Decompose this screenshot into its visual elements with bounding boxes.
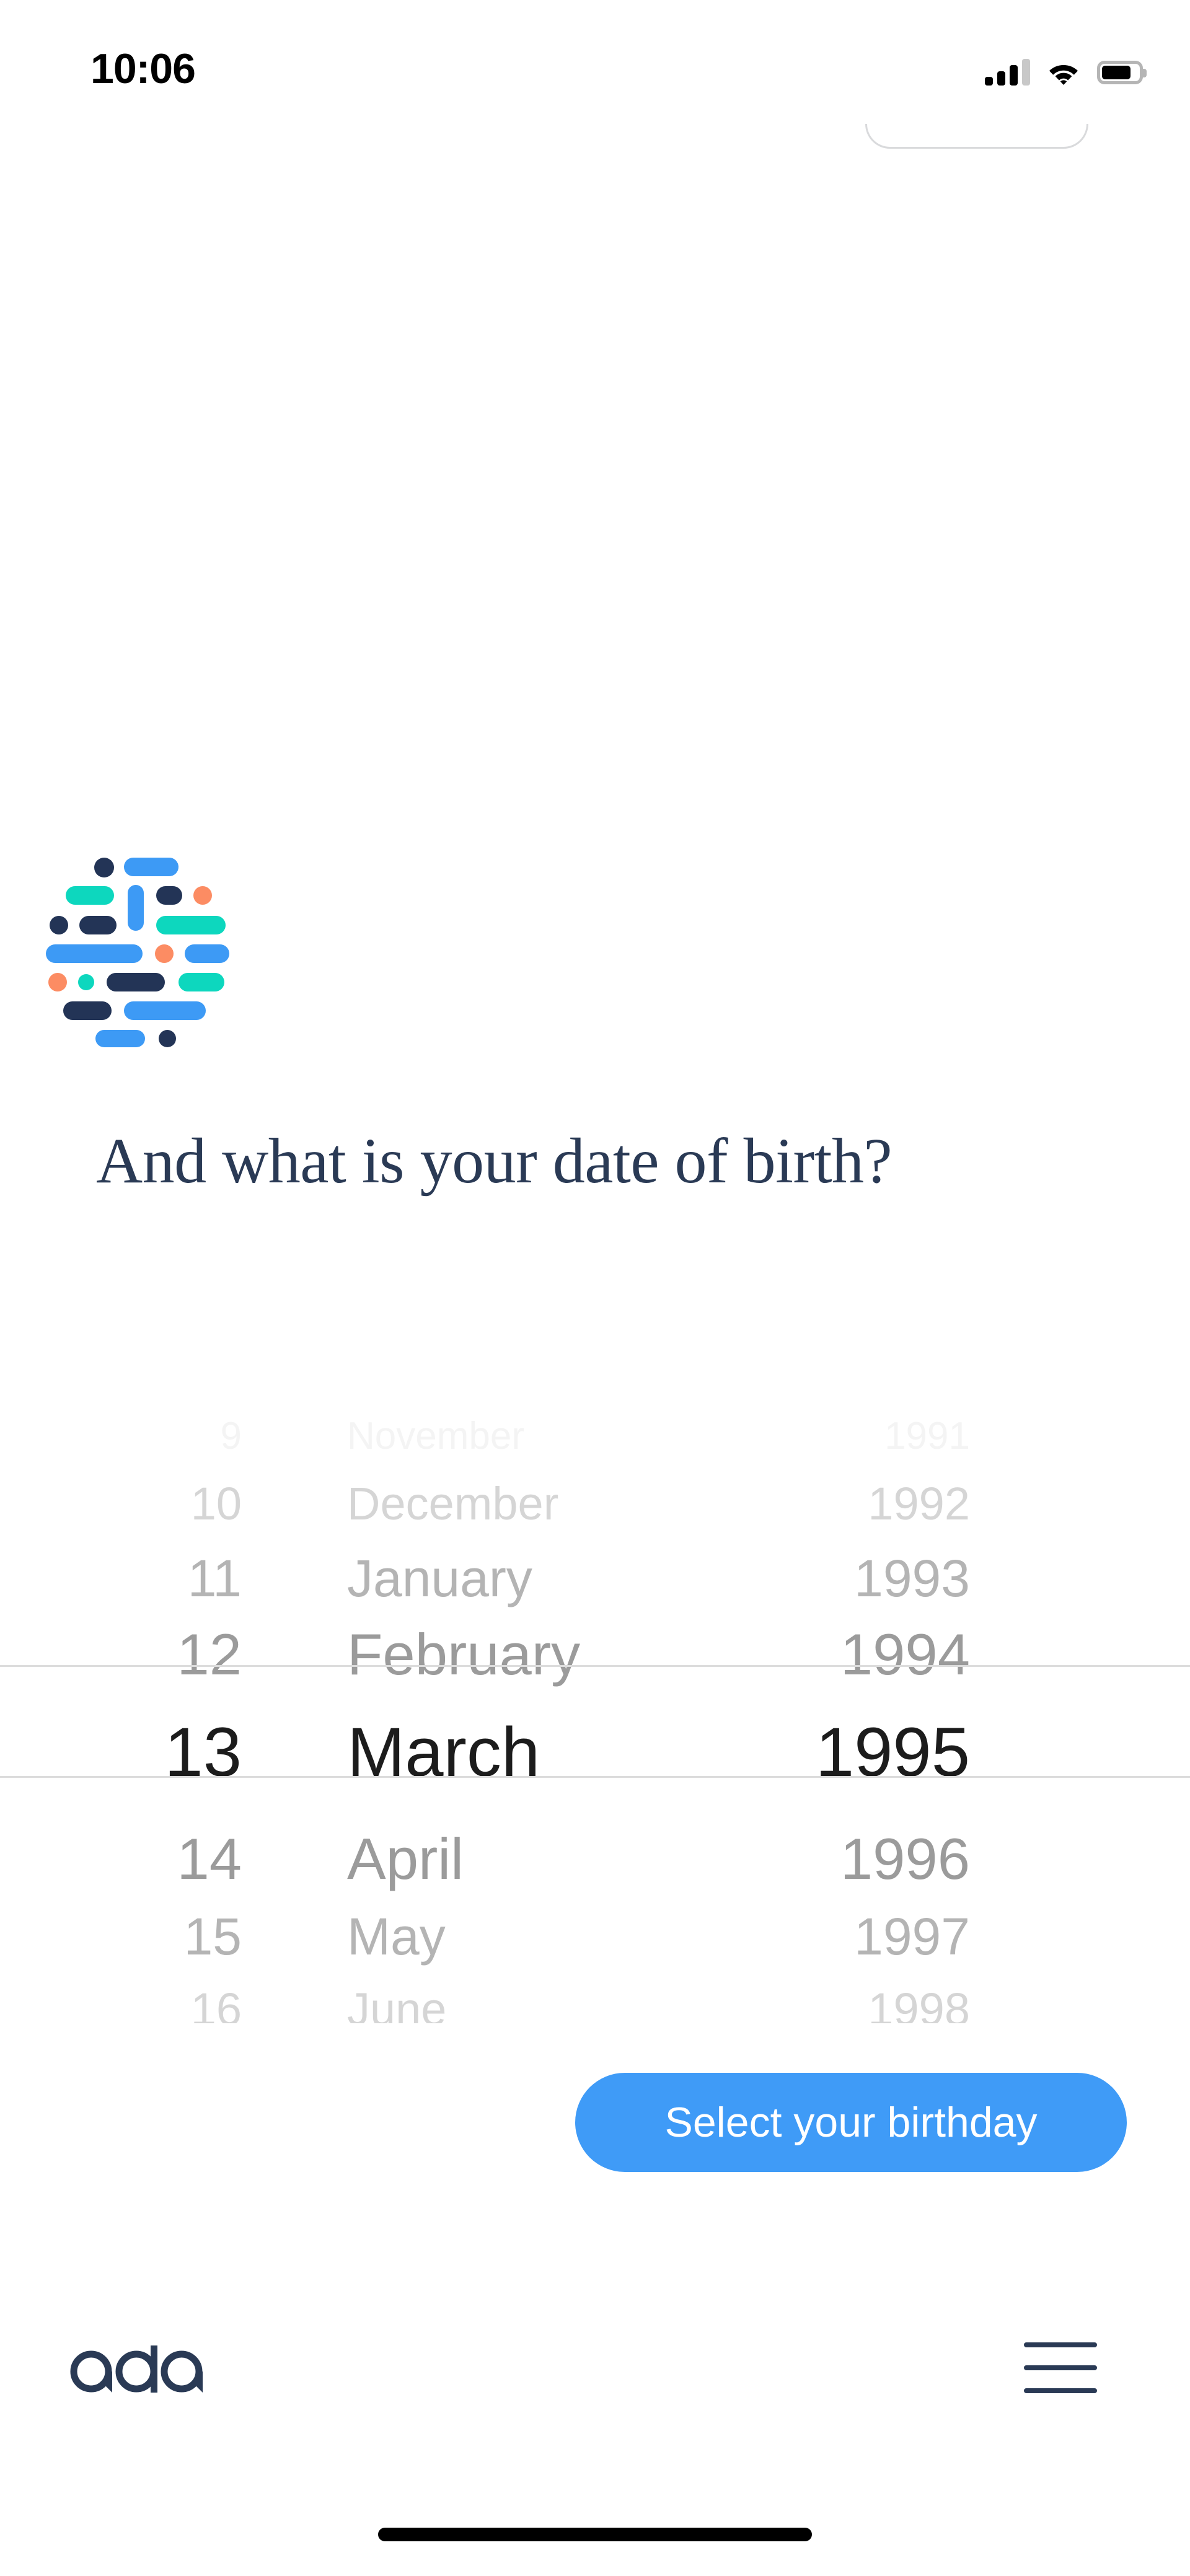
picker-year-cell[interactable]: 1996 [725,1826,1190,1892]
status-bar: 10:06 [0,0,1190,105]
status-bar-indicators [985,51,1147,86]
picker-year-cell[interactable]: 1991 [725,1414,1190,1458]
page-title: And what is your date of birth? [96,1119,902,1203]
previous-message-bubble-edge [865,124,1088,149]
signal-bars-icon [985,58,1030,86]
picker-row[interactable]: 14 April 1996 [0,1813,1190,1906]
battery-icon [1097,61,1147,86]
picker-row[interactable]: 15 May 1997 [0,1893,1190,1980]
ada-wordmark [68,2333,205,2401]
picker-month-cell[interactable]: May [291,1907,725,1967]
picker-day-cell[interactable]: 10 [0,1477,291,1530]
hamburger-menu-icon[interactable] [1024,2342,1097,2393]
picker-year-selected[interactable]: 1995 [725,1712,1190,1792]
picker-selection-line-bottom [0,1776,1190,1778]
wifi-icon [1046,58,1081,86]
picker-day-cell[interactable]: 9 [0,1414,291,1458]
picker-row[interactable]: 10 December 1992 [0,1463,1190,1544]
picker-month-cell[interactable]: January [291,1549,725,1609]
picker-day-cell[interactable]: 16 [0,1983,291,2024]
picker-day-selected[interactable]: 13 [0,1712,291,1792]
ada-dot-logo [37,848,236,1040]
picker-day-cell[interactable]: 14 [0,1826,291,1892]
home-indicator [378,2528,812,2541]
picker-row[interactable]: 16 June 1998 [0,1969,1190,2023]
select-your-birthday-button[interactable]: Select your birthday [575,2073,1127,2172]
picker-day-cell[interactable]: 15 [0,1907,291,1967]
picker-year-cell[interactable]: 1994 [725,1621,1190,1688]
picker-day-cell[interactable]: 12 [0,1621,291,1688]
picker-year-cell[interactable]: 1992 [725,1477,1190,1530]
picker-day-cell[interactable]: 11 [0,1549,291,1609]
picker-row-selected[interactable]: 13 March 1995 [0,1690,1190,1814]
picker-year-cell[interactable]: 1997 [725,1907,1190,1967]
picker-year-cell[interactable]: 1993 [725,1549,1190,1609]
picker-month-selected[interactable]: March [291,1712,725,1792]
picker-month-cell[interactable]: June [291,1983,725,2024]
picker-month-cell[interactable]: April [291,1826,725,1892]
picker-selection-line-top [0,1665,1190,1667]
picker-month-cell[interactable]: November [291,1414,725,1458]
status-bar-time: 10:06 [90,45,195,93]
picker-year-cell[interactable]: 1998 [725,1983,1190,2024]
app-screen: 10:06 [0,0,1190,2576]
picker-month-cell[interactable]: December [291,1477,725,1530]
picker-row[interactable]: 12 February 1994 [0,1608,1190,1701]
date-of-birth-picker[interactable]: 9 November 1991 10 December 1992 11 Janu… [0,1404,1190,2023]
picker-month-cell[interactable]: February [291,1621,725,1688]
